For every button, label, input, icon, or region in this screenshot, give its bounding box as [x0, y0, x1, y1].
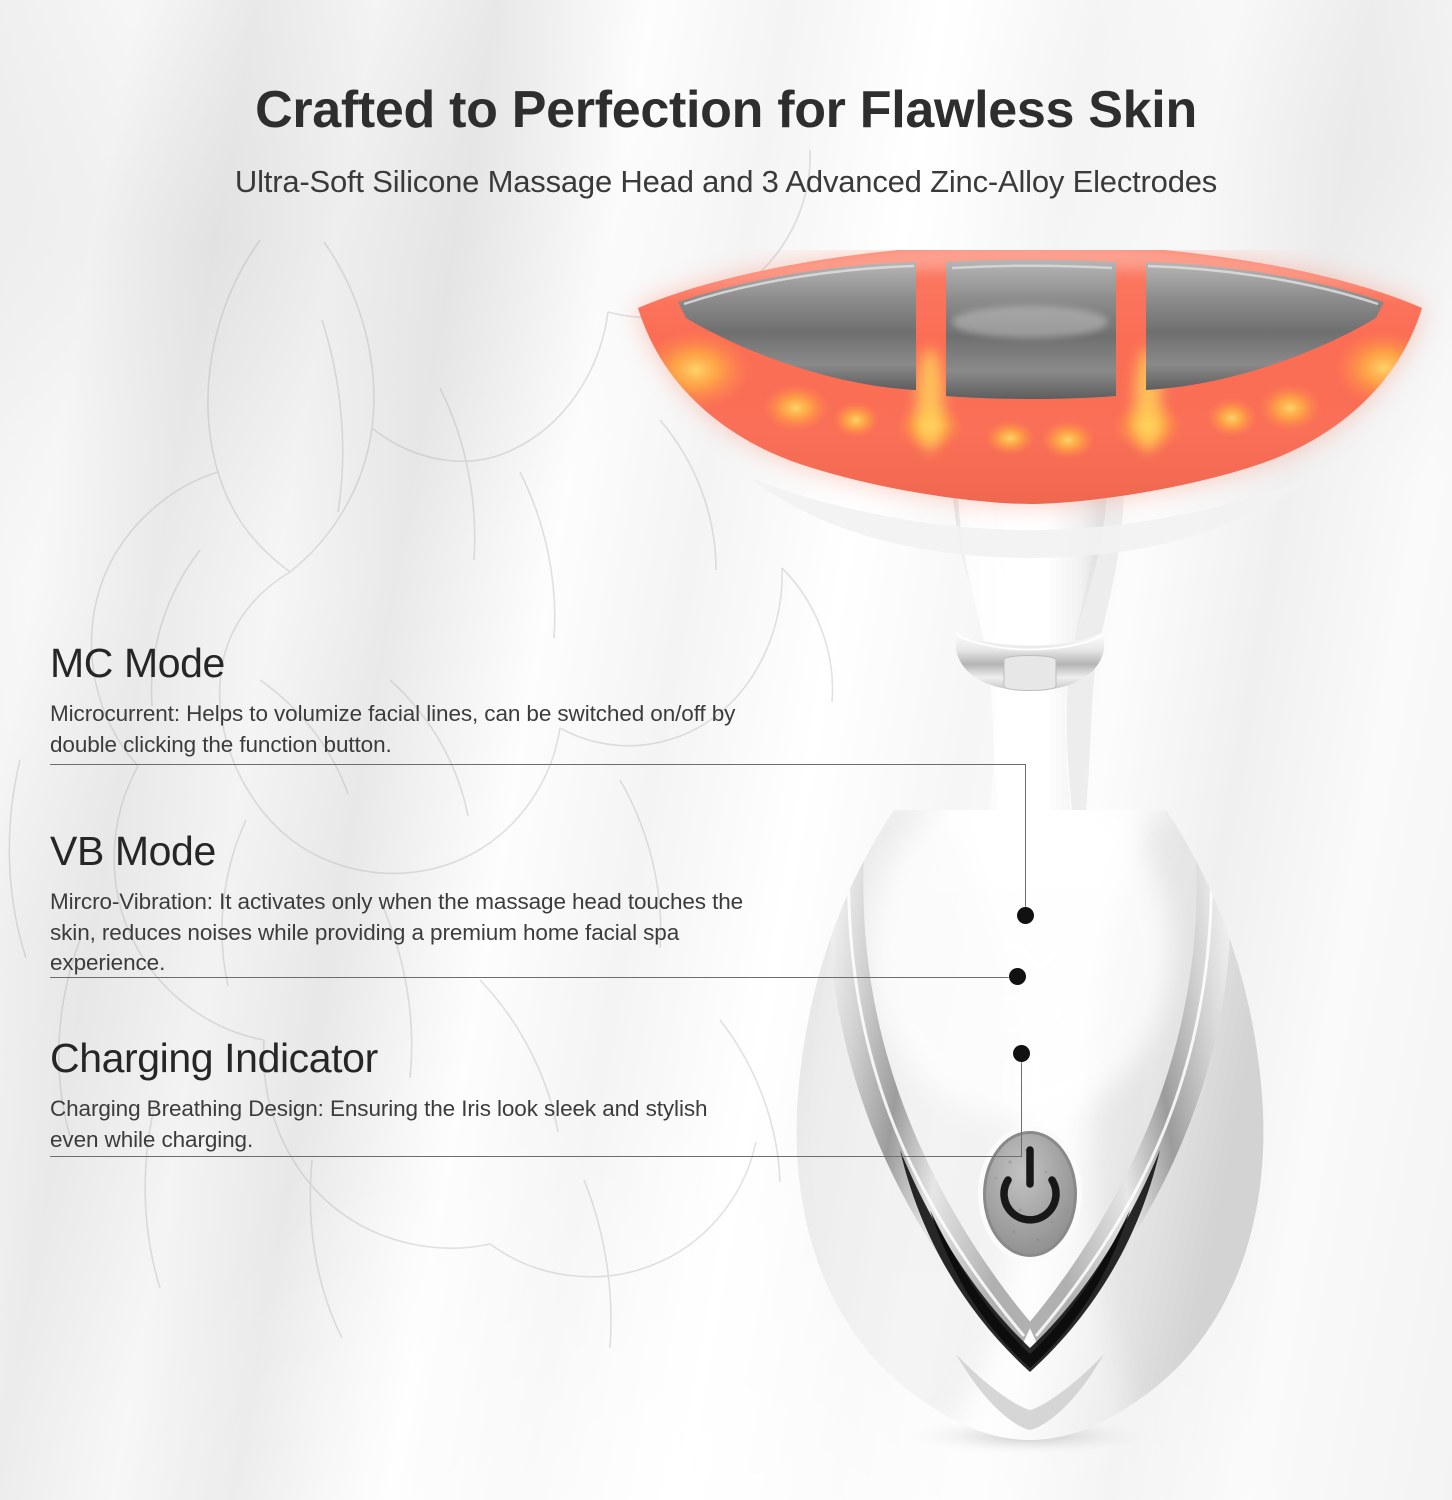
feature-body-vb-mode: Mircro-Vibration: It activates only when…: [50, 875, 750, 979]
power-button-group: [978, 1126, 1082, 1262]
feature-vb-mode: VB Mode Mircro-Vibration: It activates o…: [50, 829, 750, 979]
leader-dot-vb-mode: [1009, 968, 1026, 985]
feature-charging-indicator: Charging Indicator Charging Breathing De…: [50, 1036, 750, 1155]
product-infographic: Crafted to Perfection for Flawless Skin …: [0, 0, 1452, 1500]
feature-title-mc-mode: MC Mode: [50, 641, 750, 687]
page-headline: Crafted to Perfection for Flawless Skin: [0, 0, 1452, 138]
leader-dot-charging-indicator: [1013, 1045, 1030, 1062]
leader-dot-mc-mode: [1017, 907, 1034, 924]
feature-mc-mode: MC Mode Microcurrent: Helps to volumize …: [50, 641, 750, 760]
page-subheadline: Ultra-Soft Silicone Massage Head and 3 A…: [0, 138, 1452, 200]
feature-title-vb-mode: VB Mode: [50, 829, 750, 875]
feature-title-charging-indicator: Charging Indicator: [50, 1036, 750, 1082]
feature-body-charging-indicator: Charging Breathing Design: Ensuring the …: [50, 1082, 750, 1155]
header: Crafted to Perfection for Flawless Skin …: [0, 0, 1452, 200]
feature-body-mc-mode: Microcurrent: Helps to volumize facial l…: [50, 687, 750, 760]
